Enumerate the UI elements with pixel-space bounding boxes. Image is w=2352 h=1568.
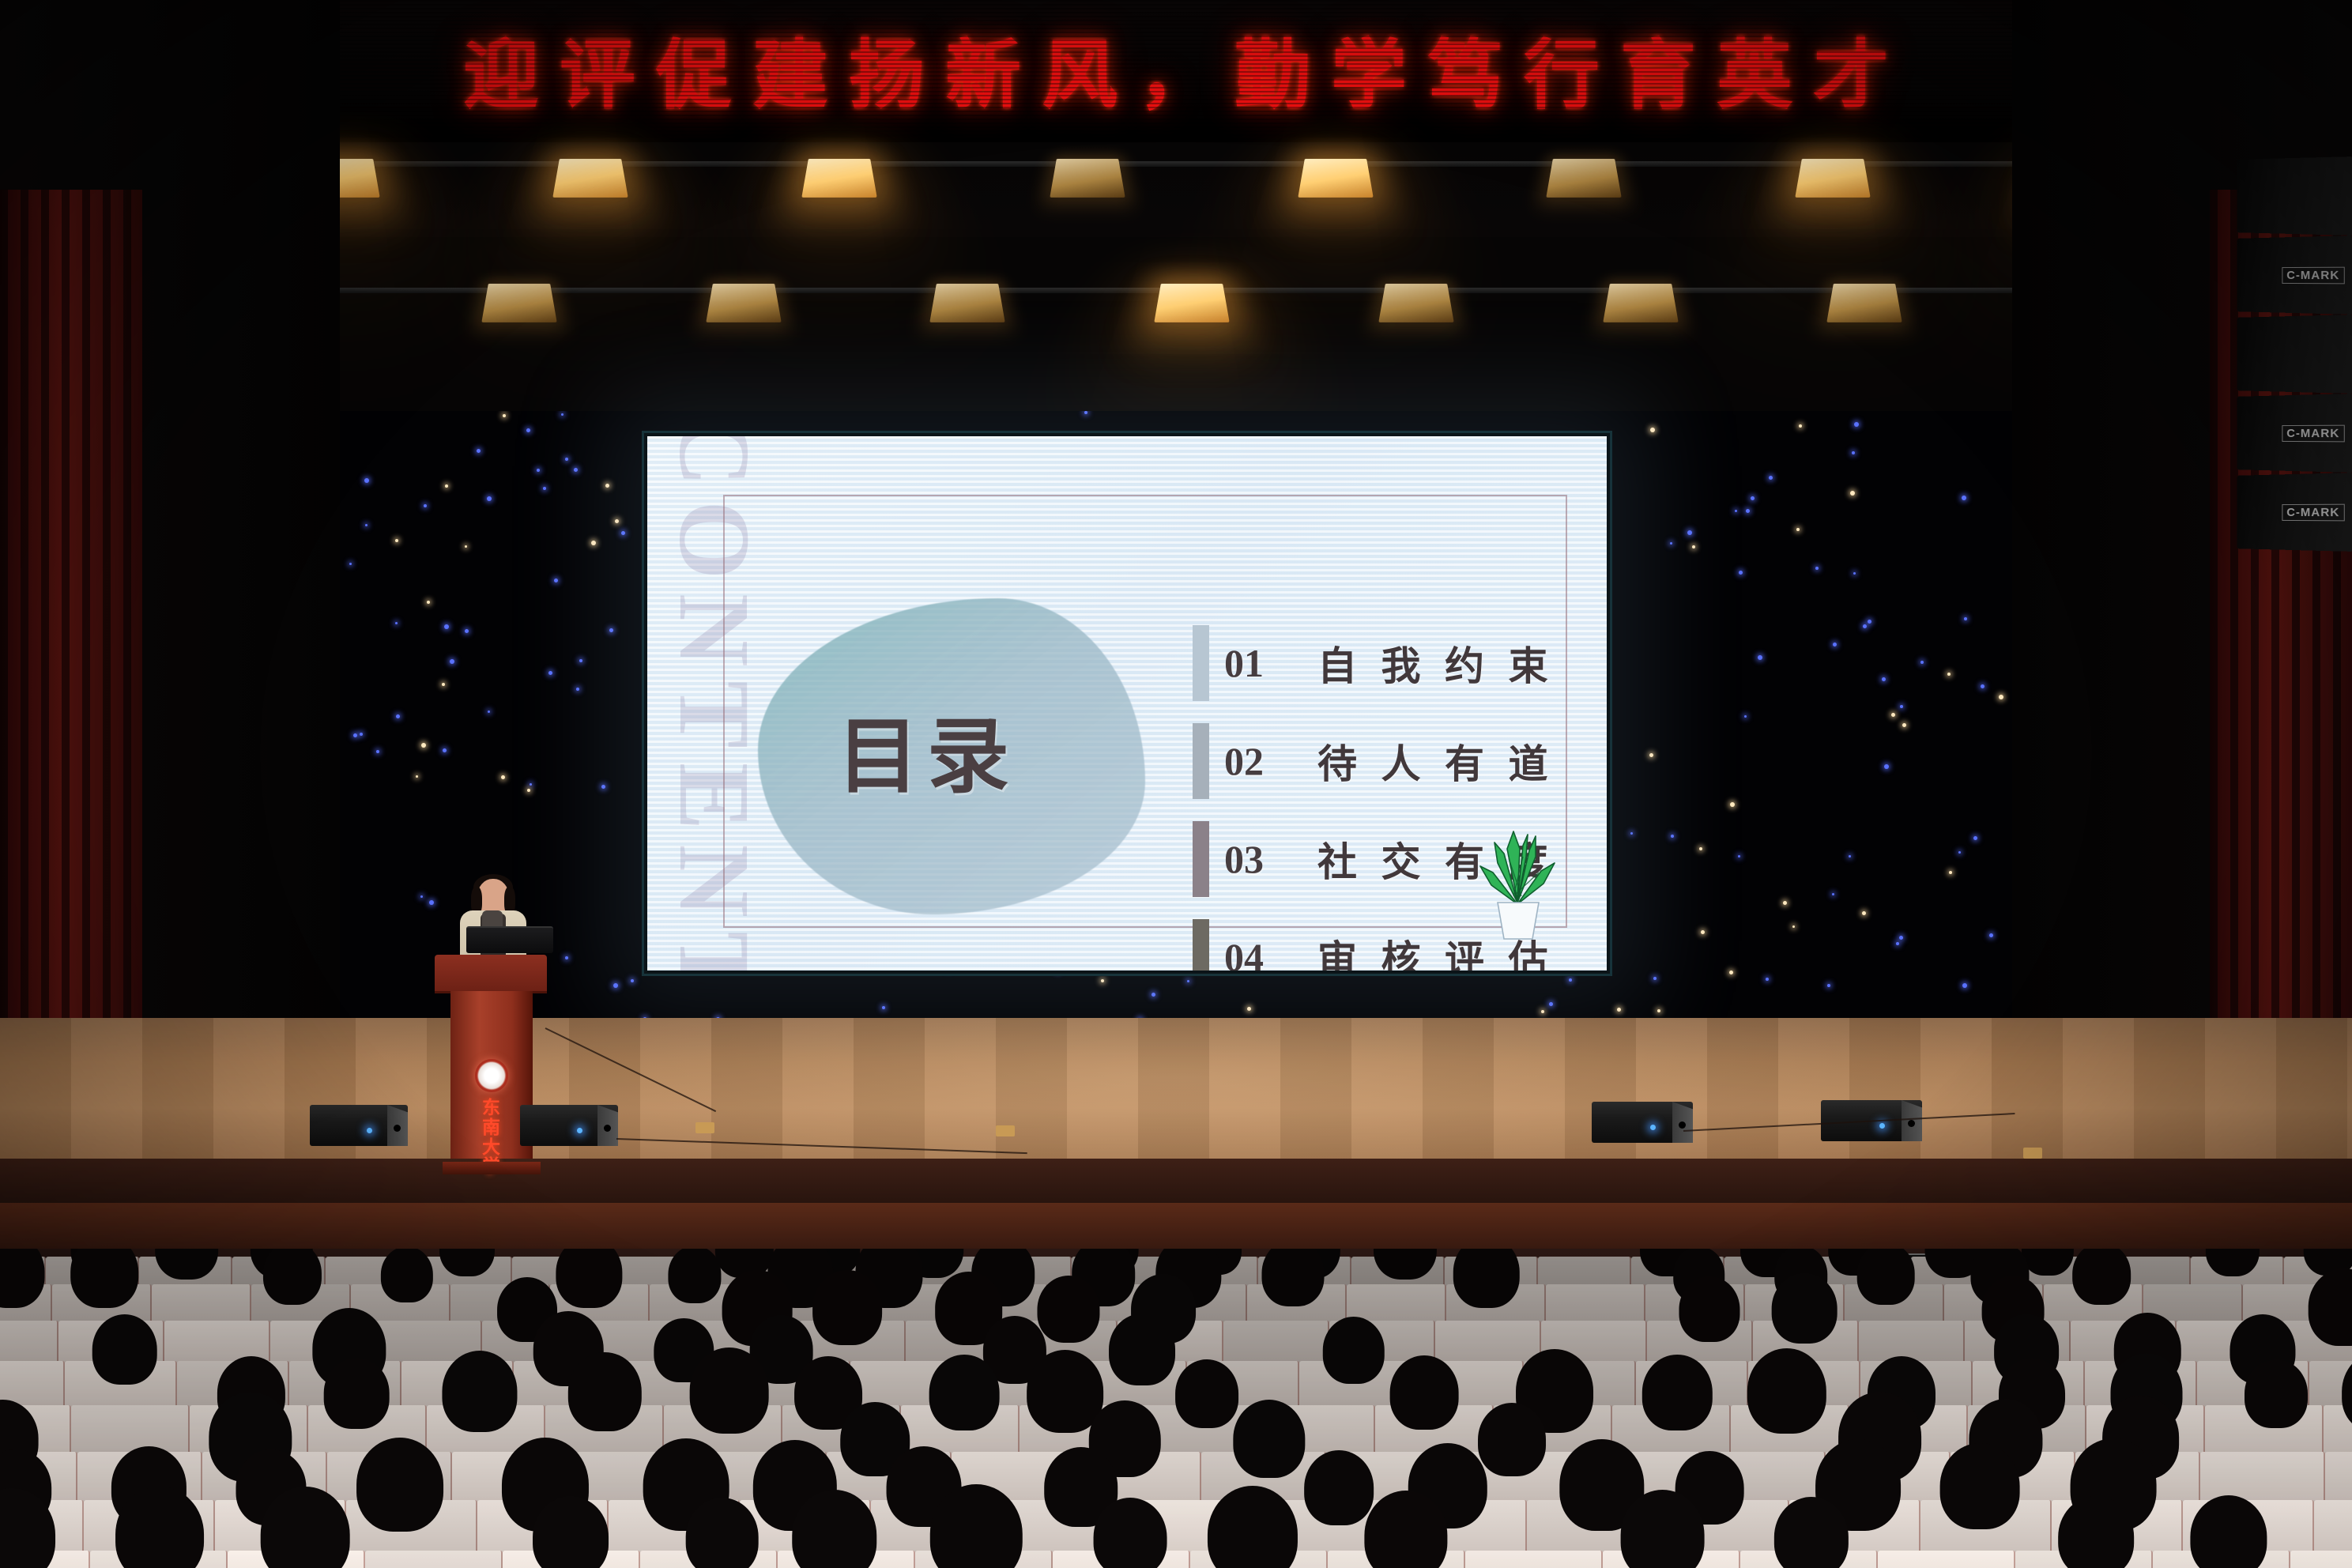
starcloth-led xyxy=(1900,705,1903,708)
starcloth-led xyxy=(450,659,454,664)
starcloth-led xyxy=(565,458,568,461)
starcloth-led xyxy=(526,428,530,432)
starcloth-led xyxy=(565,956,568,959)
starcloth-led xyxy=(376,750,379,753)
audience-member-head xyxy=(689,1347,769,1434)
starcloth-led xyxy=(488,710,490,713)
starcloth-led xyxy=(1670,542,1672,545)
starcloth-led xyxy=(1084,411,1087,414)
starcloth-led xyxy=(548,671,552,675)
audience-member-head xyxy=(2072,1249,2131,1305)
starcloth-led xyxy=(1730,802,1735,807)
auditorium-seat xyxy=(1465,1551,1603,1568)
audience-member-head xyxy=(1679,1276,1739,1342)
auditorium-seat xyxy=(90,1551,228,1568)
toc-bar-01 xyxy=(1193,625,1209,701)
starcloth-led xyxy=(615,519,619,523)
audience-member-head xyxy=(1109,1314,1175,1385)
audience-member-head xyxy=(2206,1249,2260,1276)
starcloth-led xyxy=(530,783,532,786)
starcloth-led xyxy=(1630,832,1633,835)
starcloth-led xyxy=(1799,424,1802,428)
starcloth-led xyxy=(1744,715,1747,718)
starcloth-led xyxy=(353,733,357,737)
monitor-port xyxy=(1908,1120,1915,1127)
starcloth-led xyxy=(1949,871,1952,874)
auditorium-seat xyxy=(1878,1551,2015,1568)
toc-item-01: 01 自 我 约 束 xyxy=(1193,614,1572,712)
audience-member-head xyxy=(813,1270,883,1345)
toc-number-04: 04 xyxy=(1224,934,1317,971)
starcloth-led xyxy=(1769,476,1773,480)
audience-member-head xyxy=(2021,1249,2073,1276)
starcloth-led xyxy=(1101,979,1104,982)
starcloth-led xyxy=(1735,510,1737,512)
starcloth-led xyxy=(1852,451,1855,454)
pa-speaker-box: C-MARK xyxy=(2237,394,2352,473)
audience-member-head xyxy=(1322,1317,1384,1384)
audience-member-head xyxy=(1094,1498,1167,1568)
monitor-port xyxy=(604,1125,611,1132)
audience-member-head xyxy=(2245,1359,2308,1427)
starcloth-led xyxy=(365,524,367,526)
pa-brand-label: C-MARK xyxy=(2282,267,2345,285)
starcloth-led xyxy=(1692,545,1695,548)
audience-member-head xyxy=(442,1351,517,1432)
starcloth-led xyxy=(1751,496,1755,500)
auditorium-seat xyxy=(2153,1551,2290,1568)
starcloth-led xyxy=(554,579,558,582)
starcloth-led xyxy=(527,789,530,792)
audience-member-head xyxy=(1374,1249,1437,1280)
starcloth-led xyxy=(1549,1002,1553,1006)
monitor-port xyxy=(1679,1121,1686,1129)
starcloth-led xyxy=(1569,978,1572,982)
starcloth-led xyxy=(1827,984,1830,987)
auditorium-seat xyxy=(0,1551,90,1568)
toc-number-01: 01 xyxy=(1224,640,1317,686)
stage-lamp xyxy=(1050,159,1125,198)
potted-succulent-icon xyxy=(1466,808,1569,942)
starcloth-led xyxy=(349,563,352,565)
starcloth-led xyxy=(420,895,423,898)
audience-member-head xyxy=(1940,1443,2020,1529)
starcloth-led xyxy=(1947,673,1951,676)
starcloth-led xyxy=(416,775,418,778)
starcloth-led xyxy=(576,688,579,691)
starcloth-led xyxy=(543,487,546,490)
cable-tape xyxy=(695,1122,714,1133)
starcloth-led xyxy=(1151,993,1155,997)
toc-label-02: 待 人 有 道 xyxy=(1317,733,1555,790)
starcloth-led xyxy=(1882,677,1886,681)
auditorium-seat xyxy=(1053,1551,1190,1568)
starcloth-led xyxy=(1896,942,1899,945)
auditorium-seat xyxy=(778,1551,915,1568)
stage-lamp xyxy=(1154,284,1229,322)
audience-member-head xyxy=(92,1314,157,1385)
toc-bar-03 xyxy=(1193,821,1209,897)
audience-member-head xyxy=(381,1249,433,1302)
stage-lamp xyxy=(930,284,1005,322)
starcloth-led xyxy=(1899,936,1903,940)
university-crest-icon xyxy=(475,1059,508,1092)
toc-bar-04 xyxy=(1193,919,1209,971)
starcloth-led xyxy=(1746,509,1750,513)
starcloth-led xyxy=(1868,620,1871,624)
led-banner: 迎评促建扬新风，勤学笃行育英才 xyxy=(0,0,2352,142)
pa-speaker-box: C-MARK xyxy=(2237,473,2352,552)
pa-speaker-box xyxy=(2237,156,2352,236)
audience-member-head xyxy=(155,1249,218,1280)
starcloth-led xyxy=(501,775,505,779)
auditorium-seat xyxy=(228,1551,365,1568)
monitor-power-led xyxy=(1650,1125,1656,1130)
starcloth-led xyxy=(1796,528,1800,531)
starcloth-led xyxy=(601,785,605,789)
starcloth-led xyxy=(1738,855,1740,857)
starcloth-led xyxy=(1758,655,1762,660)
starcloth-led xyxy=(1671,835,1674,838)
starcloth-led xyxy=(360,733,363,736)
starcloth-led xyxy=(1962,496,1966,500)
auditorium-seat xyxy=(2015,1551,2153,1568)
starcloth-led xyxy=(421,743,426,748)
led-banner-text: 迎评促建扬新风，勤学笃行育英才 xyxy=(443,38,1909,114)
audience-seating xyxy=(0,1249,2352,1568)
auditorium-seat xyxy=(1740,1551,1878,1568)
starcloth-led xyxy=(605,484,609,488)
starcloth-led xyxy=(1729,971,1733,974)
stage-monitor-left-inner xyxy=(520,1105,618,1146)
starcloth-led xyxy=(1766,978,1769,981)
starcloth-led xyxy=(1792,925,1795,928)
starcloth-led xyxy=(621,531,625,535)
audience-member-head xyxy=(1857,1249,1915,1305)
starcloth-led xyxy=(395,622,398,624)
starcloth-led xyxy=(579,659,582,662)
starcloth-led xyxy=(1833,643,1837,646)
screen-frame: CONTENT 目录 01 自 我 约 束 02 待 人 有 道 xyxy=(642,431,1612,976)
stage-lamp xyxy=(706,284,781,322)
audience-member-head xyxy=(1453,1249,1519,1308)
audience-member-head xyxy=(1233,1400,1305,1478)
auditorium-seat xyxy=(1190,1551,1328,1568)
podium-laptop xyxy=(466,926,553,953)
starcloth-led xyxy=(1891,713,1895,717)
starcloth-led xyxy=(1815,567,1819,570)
starcloth-led xyxy=(1981,684,1984,688)
starcloth-led xyxy=(1853,572,1856,575)
pa-speaker-box: C-MARK xyxy=(2237,236,2352,315)
audience-member-head xyxy=(1772,1273,1837,1344)
starcloth-led xyxy=(1649,753,1653,757)
presentation-slide: CONTENT 目录 01 自 我 约 束 02 待 人 有 道 xyxy=(647,436,1607,971)
stage-lamp xyxy=(481,284,556,322)
starcloth-led xyxy=(442,683,445,686)
toc-item-02: 02 待 人 有 道 xyxy=(1193,712,1572,810)
starcloth-led xyxy=(591,541,596,545)
stage-monitor-left-outer xyxy=(310,1105,408,1146)
stage-lamp xyxy=(1298,159,1373,198)
starcloth-led xyxy=(1962,983,1967,988)
stage-lamp xyxy=(1603,284,1678,322)
audience-member-head xyxy=(929,1355,1000,1430)
podium-base xyxy=(443,1162,541,1174)
starcloth-led xyxy=(1850,491,1855,496)
toc-number-03: 03 xyxy=(1224,836,1317,882)
starcloth-led xyxy=(487,496,492,501)
audience-member-head xyxy=(568,1352,641,1431)
pa-brand-label: C-MARK xyxy=(2282,425,2345,443)
cable-tape xyxy=(2023,1148,2042,1159)
audience-member-head xyxy=(439,1249,495,1276)
auditorium-seat xyxy=(915,1551,1053,1568)
auditorium-seat xyxy=(1328,1551,1465,1568)
stage-lamp xyxy=(1827,284,1902,322)
starcloth-led xyxy=(1187,980,1189,982)
pa-speaker-box xyxy=(2237,315,2352,394)
starcloth-led xyxy=(1973,836,1977,840)
toc-number-02: 02 xyxy=(1224,738,1317,784)
pa-brand-label: C-MARK xyxy=(2282,504,2345,522)
stage-lamp xyxy=(801,159,876,198)
starcloth-led xyxy=(609,628,613,632)
auditorium-seat xyxy=(640,1551,778,1568)
starcloth-led xyxy=(364,478,369,483)
starcloth-led xyxy=(1650,428,1655,432)
starcloth-led xyxy=(427,601,430,604)
starcloth-led xyxy=(465,629,469,633)
audience-member-head xyxy=(1261,1249,1324,1306)
starcloth-led xyxy=(1958,851,1961,854)
starcloth-led xyxy=(561,413,563,416)
starcloth-led xyxy=(477,449,481,453)
audience-member-head xyxy=(1304,1450,1374,1525)
audience-member-head xyxy=(71,1249,139,1308)
starcloth-led xyxy=(1920,661,1924,664)
audience-member-head xyxy=(1642,1355,1712,1430)
toc-label-01: 自 我 约 束 xyxy=(1317,635,1555,692)
starcloth-led xyxy=(1854,422,1859,427)
starcloth-led xyxy=(1739,571,1743,575)
stage-lamp xyxy=(1378,284,1453,322)
starcloth-led xyxy=(1849,855,1851,857)
starcloth-led xyxy=(1863,624,1867,628)
audience-member-head xyxy=(356,1438,443,1532)
starcloth-led xyxy=(1832,893,1834,895)
starcloth-led xyxy=(1999,695,2003,699)
stage-lamp xyxy=(1547,159,1622,198)
audience-member-head xyxy=(263,1249,322,1305)
starcloth-led xyxy=(882,1006,885,1009)
starcloth-led xyxy=(503,414,506,417)
starcloth-led xyxy=(613,983,618,988)
starcloth-led xyxy=(1653,977,1657,980)
starcloth-led xyxy=(1964,617,1967,620)
monitor-power-led xyxy=(1879,1123,1885,1129)
audience-member-head xyxy=(1175,1359,1238,1427)
audience-member-head xyxy=(1038,1276,1100,1343)
starcloth-led xyxy=(396,714,400,718)
audience-member-head xyxy=(686,1498,759,1568)
starcloth-led xyxy=(574,468,578,472)
auditorium-seat xyxy=(365,1551,503,1568)
audience-member-head xyxy=(2058,1496,2134,1568)
stage-monitor-right-inner xyxy=(1592,1102,1693,1143)
starcloth-led xyxy=(443,748,447,752)
auditorium-seat xyxy=(1603,1551,1740,1568)
starcloth-led xyxy=(465,545,467,548)
stage-lamp xyxy=(1795,159,1870,198)
monitor-power-led xyxy=(367,1128,372,1133)
auditorium-seat xyxy=(503,1551,640,1568)
house-light-row-1 xyxy=(0,126,2352,198)
starcloth-led xyxy=(1701,930,1705,934)
audience-row xyxy=(0,1551,2352,1568)
starcloth-led xyxy=(631,979,634,982)
starcloth-led xyxy=(429,900,434,905)
audience-member-head xyxy=(668,1249,721,1303)
starcloth-led xyxy=(395,539,398,542)
starcloth-led xyxy=(1247,1007,1251,1011)
monitor-power-led xyxy=(577,1128,582,1133)
starcloth-led xyxy=(1617,1008,1621,1012)
house-light-row-2 xyxy=(0,253,2352,324)
pa-line-array: C-MARK C-MARK C-MARK xyxy=(2233,158,2352,553)
audience-member-head xyxy=(0,1249,44,1308)
starcloth-led xyxy=(537,469,540,472)
auditorium-hall: 迎评促建扬新风，勤学笃行育英才 C-MARK C-MARK C-MARK CON… xyxy=(0,0,2352,1568)
starcloth-led xyxy=(1699,847,1702,850)
audience-member-head xyxy=(324,1358,390,1428)
cable-tape xyxy=(996,1125,1015,1136)
stage-lip xyxy=(0,1159,2352,1208)
starcloth-led xyxy=(1989,933,1993,937)
audience-member-head xyxy=(556,1249,622,1308)
starcloth-led xyxy=(1783,901,1787,905)
stage-lamp xyxy=(553,159,628,198)
audience-member-head xyxy=(1390,1355,1459,1430)
audience-member-head xyxy=(1478,1403,1546,1476)
starcloth-led xyxy=(1884,764,1889,769)
starcloth-led xyxy=(1657,1009,1660,1012)
slide-title: 目录 xyxy=(837,689,1106,808)
starcloth-led xyxy=(445,484,448,488)
starcloth-led xyxy=(1687,530,1692,535)
podium-top xyxy=(435,955,547,991)
monitor-port xyxy=(394,1125,401,1132)
auditorium-seat xyxy=(2290,1551,2352,1568)
toc-bar-02 xyxy=(1193,723,1209,799)
starcloth-led xyxy=(1902,723,1906,727)
projection-screen: CONTENT 目录 01 自 我 约 束 02 待 人 有 道 xyxy=(642,431,1612,976)
starcloth-led xyxy=(1862,911,1866,915)
starcloth-led xyxy=(1541,1010,1544,1013)
starcloth-led xyxy=(444,624,449,629)
starcloth-led xyxy=(424,504,427,507)
audience-member-head xyxy=(1747,1348,1826,1434)
